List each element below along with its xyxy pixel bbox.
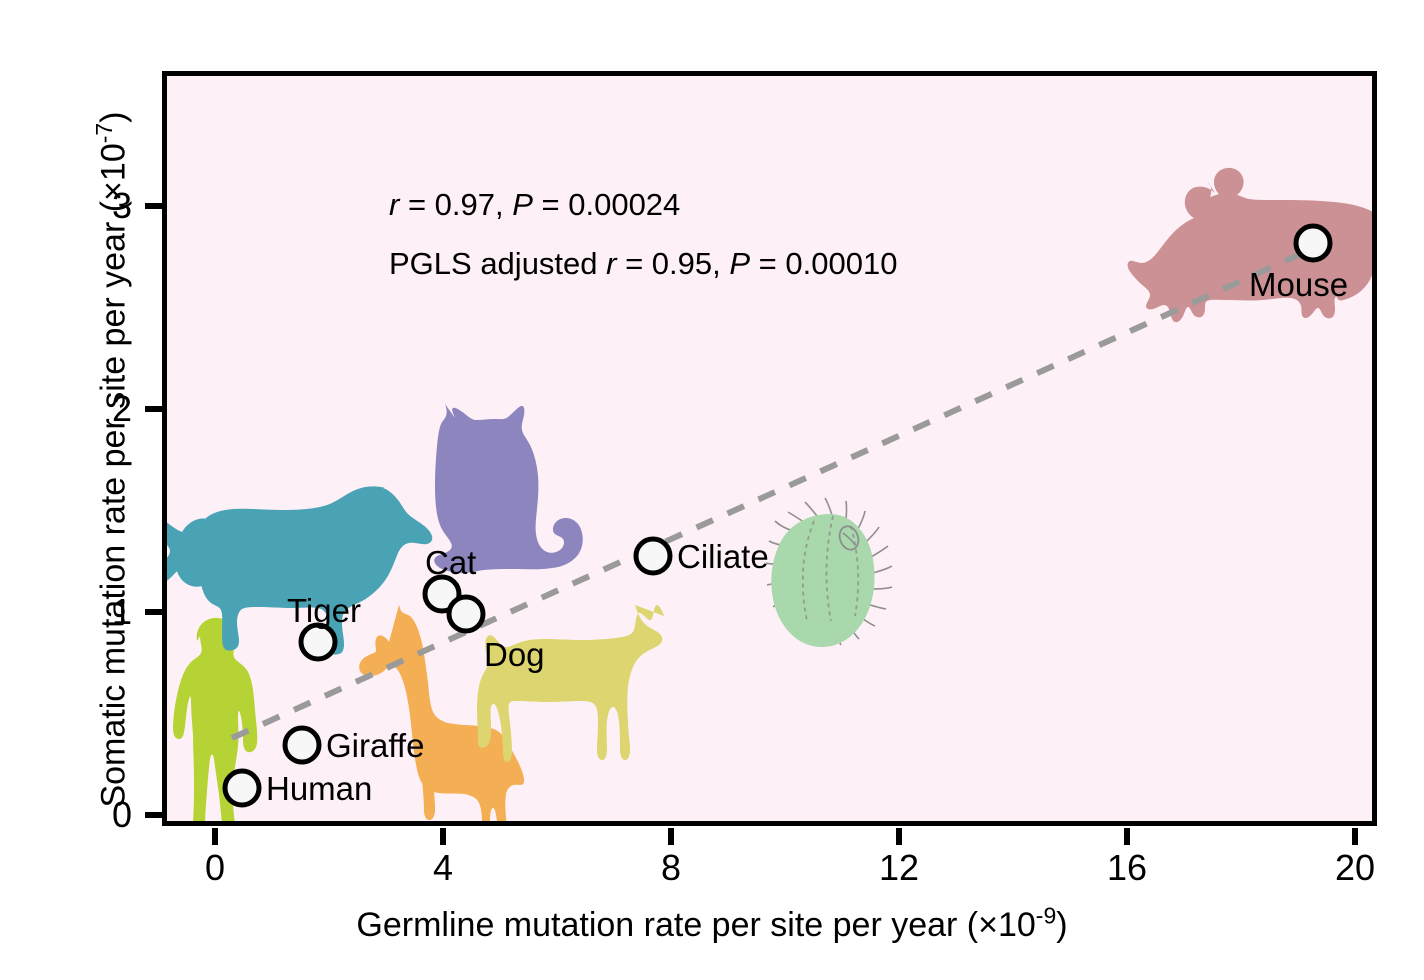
y-axis-title-close: ) [95,111,133,122]
x-tick-label-0: 0 [205,847,225,889]
x-tick-label-16: 16 [1107,847,1147,889]
y-axis-title-main: Somatic mutation rate per site per year … [95,143,133,807]
x-axis-title-main: Germline mutation rate per site per year… [356,906,1035,944]
x-tick-label-8: 8 [661,847,681,889]
x-tick-label-20: 20 [1335,847,1375,889]
figure-root: r = 0.97, P = 0.00024 PGLS adjusted r = … [0,0,1424,980]
x-axis-title: Germline mutation rate per site per year… [0,906,1424,945]
x-tick-label-12: 12 [879,847,919,889]
x-tick-label-4: 4 [433,847,453,889]
y-axis-title: Somatic mutation rate per site per year … [95,30,134,890]
x-axis-title-exponent: -9 [1036,903,1056,929]
axis-ticks-layer [0,0,1424,980]
y-axis-title-exponent: -7 [91,123,117,143]
x-axis-title-close: ) [1056,906,1067,944]
